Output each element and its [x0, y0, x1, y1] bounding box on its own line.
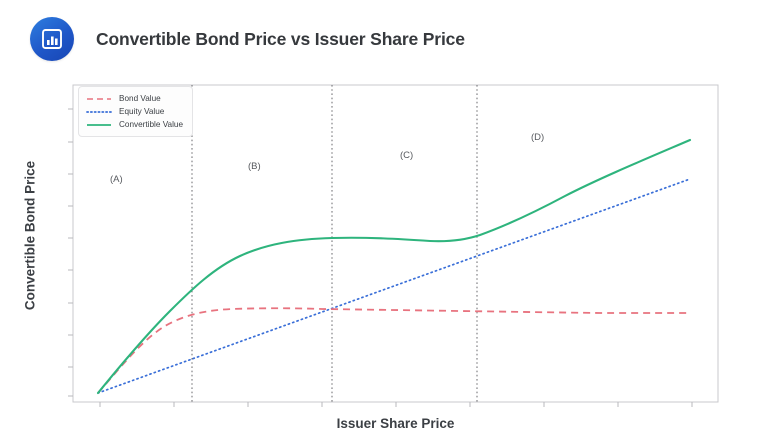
- legend-item-bond-value[interactable]: Bond Value: [86, 92, 183, 105]
- region-annotation-c: (C): [400, 150, 413, 161]
- region-annotation-d: (D): [531, 132, 544, 143]
- region-annotation-a: (A): [110, 174, 123, 185]
- chart-page: Convertible Bond Price vs Issuer Share P…: [0, 0, 768, 443]
- x-axis-ticks: [100, 402, 692, 407]
- dashed-line-swatch: [86, 94, 112, 104]
- chart-container: Convertible Bond Price Issuer Share Pric…: [0, 78, 768, 443]
- y-axis-ticks: [68, 109, 73, 396]
- legend-item-equity-value[interactable]: Equity Value: [86, 105, 183, 118]
- legend-item-convertible-value[interactable]: Convertible Value: [86, 118, 183, 131]
- bar-chart-icon: [30, 17, 74, 61]
- x-axis-title: Issuer Share Price: [73, 416, 718, 431]
- region-annotation-b: (B): [248, 161, 261, 172]
- legend-label-equity-value: Equity Value: [119, 105, 164, 118]
- page-header: Convertible Bond Price vs Issuer Share P…: [0, 0, 768, 78]
- legend-label-bond-value: Bond Value: [119, 92, 161, 105]
- solid-line-swatch: [86, 120, 112, 130]
- page-title: Convertible Bond Price vs Issuer Share P…: [96, 29, 465, 50]
- dotted-line-swatch: [86, 107, 112, 117]
- y-axis-title: Convertible Bond Price: [23, 136, 38, 336]
- legend-label-convertible-value: Convertible Value: [119, 118, 183, 131]
- chart-legend: Bond Value Equity Value Convertible Valu…: [78, 86, 193, 137]
